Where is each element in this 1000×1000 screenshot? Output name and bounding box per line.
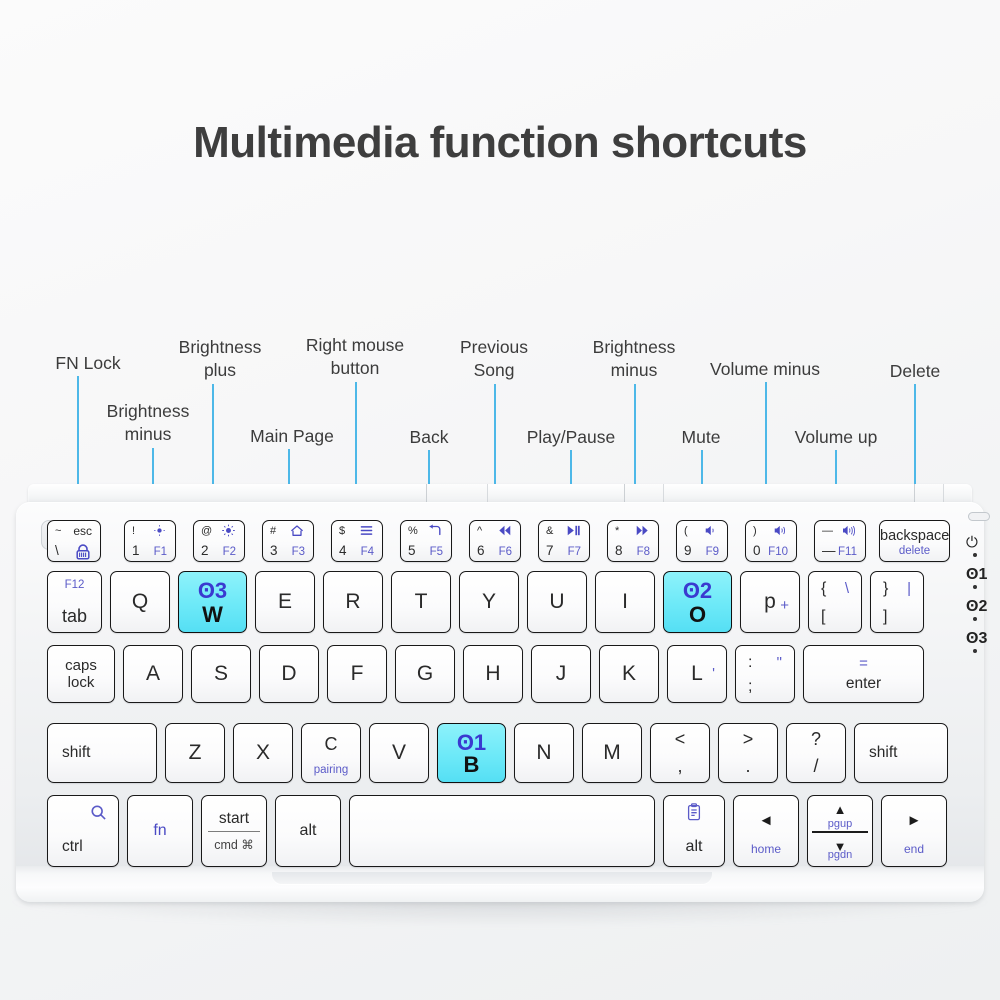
key-legend-base: 7 (546, 543, 554, 558)
status-led (973, 617, 977, 621)
key-y[interactable]: Y (459, 571, 519, 633)
status-led (973, 649, 977, 653)
key-label: U (528, 590, 586, 614)
key-f9[interactable]: (9F9 (676, 520, 728, 562)
page-title: Multimedia function shortcuts (0, 118, 1000, 168)
key-start[interactable]: startcmd ⌘ (201, 795, 267, 867)
callout-label: Volume up (786, 426, 886, 449)
key-slash[interactable]: ?/ (786, 723, 846, 783)
key-l[interactable]: L' (667, 645, 727, 703)
bluetooth-3-indicator: ʘ3 (962, 630, 998, 662)
key-label: J (532, 662, 590, 686)
key-f[interactable]: F (327, 645, 387, 703)
key-m[interactable]: M (582, 723, 642, 783)
key-f10[interactable]: )0F10 (745, 520, 797, 562)
key-legend-fn: F8 (637, 546, 650, 558)
key-legend-shift: — (822, 525, 833, 537)
key-t[interactable]: T (391, 571, 451, 633)
key-label: V (370, 741, 428, 765)
next-track-icon (635, 524, 650, 537)
key-label: alt (276, 822, 340, 840)
power-switch-slot[interactable] (968, 512, 990, 521)
key-legend-alt: ' (712, 665, 715, 682)
keyboard-front-notch (272, 872, 712, 884)
key-legend-base: 4 (339, 543, 347, 558)
key-ctrl[interactable]: ctrl (47, 795, 119, 867)
arrow-icon: ◄ (734, 812, 798, 829)
key-f4[interactable]: $4F4 (331, 520, 383, 562)
key-label: alt (664, 838, 724, 856)
key-legend-shift: { (821, 580, 826, 598)
key-sublabel: cmd ⌘ (202, 837, 266, 852)
key-legend-shift: ? (787, 729, 845, 750)
key-legend-base: 2 (201, 543, 209, 558)
key-label: tab (48, 606, 101, 627)
key-legend-base: ] (883, 608, 887, 626)
key-h[interactable]: H (463, 645, 523, 703)
key-r[interactable]: R (323, 571, 383, 633)
key-legend-alt: | (907, 580, 911, 597)
key-legend-shift: ) (753, 525, 757, 537)
key-legend-base: . (719, 756, 777, 777)
key-legend-fn: F10 (768, 546, 788, 558)
key-legend-fn: F7 (568, 546, 581, 558)
key-legend-base: 8 (615, 543, 623, 558)
key-semicolon[interactable]: :"; (735, 645, 795, 703)
key-label: E (256, 590, 314, 614)
keyboard-shadow (12, 900, 988, 926)
bluetooth-3-indicator-glyph: ʘ3 (966, 630, 987, 648)
key-sublabel: end (882, 842, 946, 856)
status-indicator-column: ⏻ʘ1ʘ2ʘ3 (962, 534, 998, 662)
key-legend-base: / (787, 756, 845, 777)
key-z[interactable]: Z (165, 723, 225, 783)
key-legend-fn: F4 (361, 546, 374, 558)
key-sublabel: pgdn (808, 849, 872, 861)
volume-max-icon (842, 524, 857, 537)
search-icon (90, 804, 107, 821)
volume-down-icon (704, 524, 719, 537)
key-o[interactable]: ʘ2O (663, 571, 732, 633)
play-pause-icon (566, 524, 581, 537)
key-label: S (192, 662, 250, 686)
back-icon (427, 524, 443, 537)
key-legend-alt: " (777, 654, 782, 671)
key-legend-shift: > (719, 729, 777, 750)
key-alt-right[interactable]: alt (663, 795, 725, 867)
key-label: O (664, 602, 731, 628)
key-legend-base: 3 (270, 543, 278, 558)
key-comma[interactable]: <, (650, 723, 710, 783)
key-c[interactable]: Cpairing (301, 723, 361, 783)
key-label: T (392, 590, 450, 614)
key-sublabel: home (734, 842, 798, 856)
key-legend-base: 9 (684, 543, 692, 558)
callout-label: Mute (668, 426, 734, 449)
key-shift-right[interactable]: shift (854, 723, 948, 783)
key-label: shift (62, 744, 90, 762)
key-legend-base: 1 (132, 543, 140, 558)
key-legend-fn: F9 (706, 546, 719, 558)
bluetooth-channel-icon: ʘ2 (664, 578, 731, 604)
callout-label: Previous Song (444, 336, 544, 383)
key-legend-alt: = (804, 655, 923, 672)
key-label: capslock (48, 657, 114, 692)
key-legend-shift: ^ (477, 525, 482, 537)
key-i[interactable]: I (595, 571, 655, 633)
key-legend-base: ; (748, 678, 752, 696)
bluetooth-channel-icon: ʘ3 (179, 578, 246, 604)
key-e[interactable]: E (255, 571, 315, 633)
key-label: enter (804, 675, 923, 693)
power-icon: ⏻ (962, 534, 998, 566)
brightness-up-icon (221, 524, 236, 537)
key-legend-shift: $ (339, 525, 345, 537)
key-f8[interactable]: *8F8 (607, 520, 659, 562)
key-f6[interactable]: ^6F6 (469, 520, 521, 562)
key-label: shift (869, 744, 897, 762)
key-f11[interactable]: ——F11 (814, 520, 866, 562)
key-legend-fn: F11 (838, 546, 857, 558)
key-legend-shift: # (270, 525, 276, 537)
bluetooth-2-indicator: ʘ2 (962, 598, 998, 630)
callout-label: Brightness minus (96, 400, 200, 447)
key-legend-base: [ (821, 608, 825, 626)
status-led (973, 553, 977, 557)
key-legend-fn: F6 (499, 546, 512, 558)
key-k[interactable]: K (599, 645, 659, 703)
key-label: R (324, 590, 382, 614)
key-legend-shift: & (546, 525, 553, 537)
key-legend-shift: } (883, 580, 888, 598)
key-label: start (208, 810, 260, 832)
key-legend-alt: + (780, 597, 789, 614)
key-legend-shift: : (748, 654, 752, 672)
prev-track-icon (497, 524, 512, 537)
key-sublabel: delete (880, 545, 949, 557)
key-label: G (396, 662, 454, 686)
key-a[interactable]: A (123, 645, 183, 703)
key-legend-alt: esc (73, 524, 92, 538)
key-f1[interactable]: !1F1 (124, 520, 176, 562)
key-d[interactable]: D (259, 645, 319, 703)
key-label: backspace (880, 528, 949, 544)
bluetooth-1-indicator-glyph: ʘ1 (966, 566, 987, 584)
key-end[interactable]: ►end (881, 795, 947, 867)
key-label: fn (128, 822, 192, 840)
key-esc[interactable]: ~esc\ (47, 520, 101, 562)
home-icon (289, 524, 305, 537)
key-pgup-pgdn[interactable]: ▲pgup▼pgdn (807, 795, 873, 867)
key-label: N (515, 741, 573, 765)
key-label: X (234, 741, 292, 765)
key-legend-fn: F2 (223, 546, 236, 558)
key-legend-base: , (651, 756, 709, 777)
key-legend-shift: ( (684, 525, 688, 537)
key-p[interactable]: p+ (740, 571, 800, 633)
key-label: p (741, 590, 799, 614)
key-period[interactable]: >. (718, 723, 778, 783)
bluetooth-2-indicator-glyph: ʘ2 (966, 598, 987, 616)
key-tab[interactable]: F12tab (47, 571, 102, 633)
callout-label: Back (396, 426, 462, 449)
callout-label: Brightness plus (170, 336, 270, 383)
key-lbracket[interactable]: {\[ (808, 571, 862, 633)
callout-label: Main Page (240, 425, 344, 448)
product-image: Multimedia function shortcuts FN LockBri… (0, 0, 1000, 1000)
key-shift-left[interactable]: shift (47, 723, 157, 783)
key-legend-base: — (822, 543, 836, 558)
key-label: M (583, 741, 641, 765)
callout-label: Right mouse button (288, 334, 422, 381)
key-label: W (179, 602, 246, 628)
bluetooth-1-indicator: ʘ1 (962, 566, 998, 598)
key-label: Y (460, 590, 518, 614)
key-label: D (260, 662, 318, 686)
key-legend-fn: F3 (292, 546, 305, 558)
status-led (973, 585, 977, 589)
brightness-down-icon (152, 524, 167, 537)
key-legend-shift: @ (201, 525, 212, 537)
key-label: ctrl (62, 838, 83, 856)
key-capslock[interactable]: capslock (47, 645, 115, 703)
key-sublabel: pgup (808, 818, 872, 830)
key-backspace[interactable]: backspacedelete (879, 520, 950, 562)
key-alt-left[interactable]: alt (275, 795, 341, 867)
key-legend-fn: F12 (48, 579, 101, 591)
key-f2[interactable]: @2F2 (193, 520, 245, 562)
key-legend-base: 5 (408, 543, 416, 558)
callout-label: Volume minus (694, 358, 836, 381)
key-legend-shift: ! (132, 525, 135, 537)
key-legend-base: \ (55, 543, 59, 558)
key-j[interactable]: J (531, 645, 591, 703)
key-n[interactable]: N (514, 723, 574, 783)
key-u[interactable]: U (527, 571, 587, 633)
key-enter[interactable]: =enter (803, 645, 924, 703)
key-rbracket[interactable]: }|] (870, 571, 924, 633)
key-label: B (438, 752, 505, 778)
key-legend-shift: < (651, 729, 709, 750)
volume-up-icon (773, 524, 788, 537)
key-legend-shift: * (615, 525, 619, 537)
key-label: Z (166, 741, 224, 765)
key-label: Q (111, 590, 169, 614)
key-s[interactable]: S (191, 645, 251, 703)
key-legend-shift: % (408, 525, 418, 537)
key-home[interactable]: ◄home (733, 795, 799, 867)
key-g[interactable]: G (395, 645, 455, 703)
key-divider (812, 831, 868, 833)
key-legend-base: 6 (477, 543, 485, 558)
key-label: K (600, 662, 658, 686)
key-f7[interactable]: &7F7 (538, 520, 590, 562)
key-x[interactable]: X (233, 723, 293, 783)
key-label: L (668, 662, 726, 686)
key-label: H (464, 662, 522, 686)
key-space[interactable] (349, 795, 655, 867)
key-legend-base: 0 (753, 543, 761, 558)
arrow-icon: ► (882, 812, 946, 829)
key-b[interactable]: ʘ1B (437, 723, 506, 783)
key-legend-fn: F5 (430, 546, 443, 558)
key-q[interactable]: Q (110, 571, 170, 633)
key-label: C (302, 734, 360, 755)
callout-label: Play/Pause (518, 426, 624, 449)
fn-lock-icon (74, 543, 92, 560)
clipboard-icon (687, 803, 702, 821)
key-legend-fn: F1 (154, 546, 167, 558)
key-label: I (596, 590, 654, 614)
key-f3[interactable]: #3F3 (262, 520, 314, 562)
key-legend-shift: ~ (55, 525, 61, 537)
key-label: F (328, 662, 386, 686)
arrow-up-icon: ▲ (808, 802, 872, 817)
power-icon-glyph: ⏻ (966, 534, 978, 551)
key-legend-alt: \ (845, 580, 849, 597)
callout-label: Delete (882, 360, 948, 383)
key-w[interactable]: ʘ3W (178, 571, 247, 633)
key-f5[interactable]: %5F5 (400, 520, 452, 562)
key-label: A (124, 662, 182, 686)
callout-label: FN Lock (40, 352, 136, 375)
menu-icon (359, 524, 374, 537)
key-v[interactable]: V (369, 723, 429, 783)
callout-label: Brightness minus (582, 336, 686, 383)
key-sublabel: pairing (302, 764, 360, 776)
key-fn[interactable]: fn (127, 795, 193, 867)
